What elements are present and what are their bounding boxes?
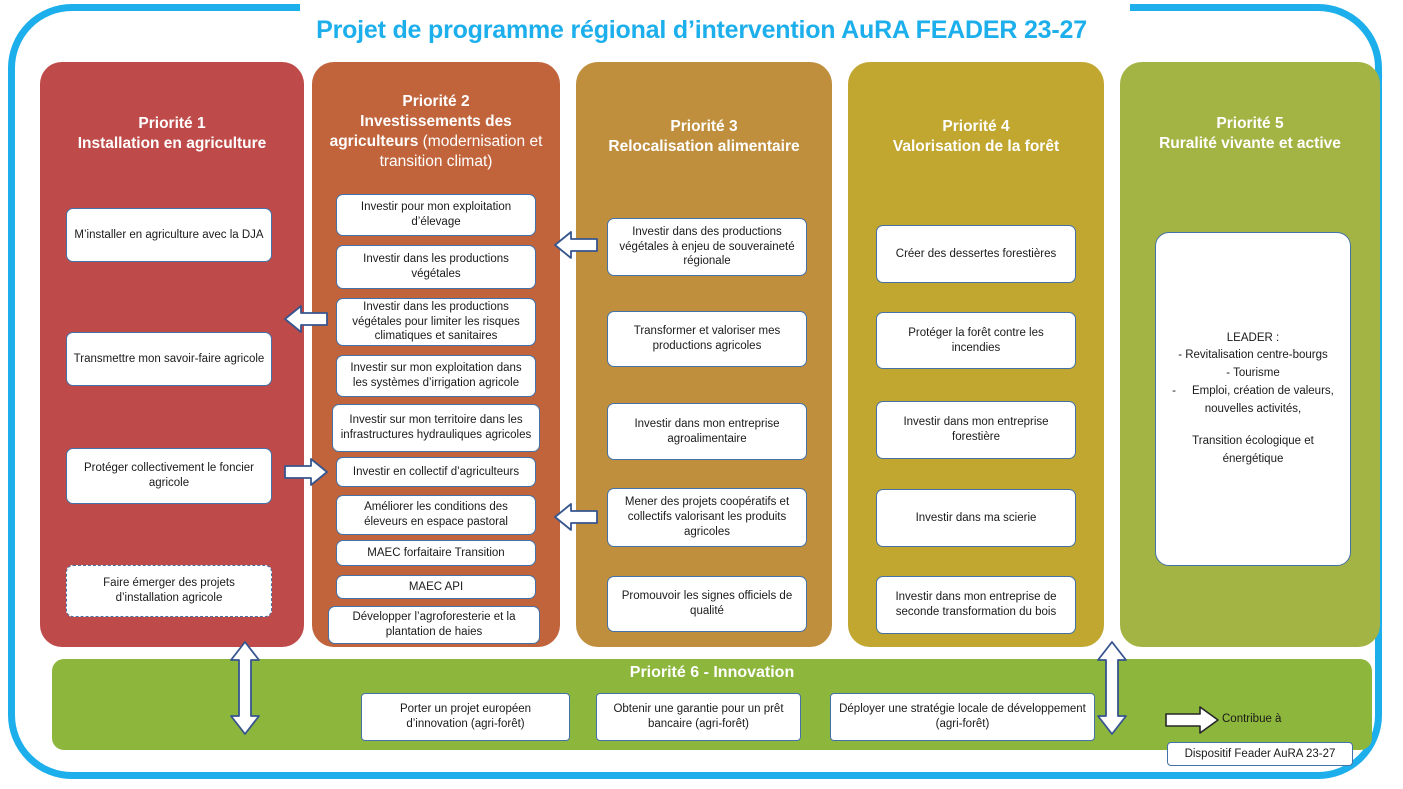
priority-2-number: Priorité 2: [322, 92, 550, 112]
leader-line: - Tourisme: [1162, 365, 1344, 383]
arrow-vertical-p5-p6: [1095, 640, 1129, 736]
action-box[interactable]: Transformer et valoriser mes productions…: [607, 311, 807, 367]
action-box[interactable]: Investir dans mon entreprise agroaliment…: [607, 403, 807, 460]
action-box[interactable]: Obtenir une garantie pour un prêt bancai…: [596, 693, 801, 741]
action-box[interactable]: Investir dans les productions végétales …: [336, 298, 536, 346]
action-box[interactable]: Améliorer les conditions des éleveurs en…: [336, 495, 536, 535]
priority-1-header: Priorité 1 Installation en agriculture: [40, 62, 304, 154]
action-box[interactable]: Mener des projets coopératifs et collect…: [607, 488, 807, 547]
priority-3-header: Priorité 3 Relocalisation alimentaire: [576, 62, 832, 157]
action-box[interactable]: Investir dans des productions végétales …: [607, 218, 807, 276]
arrow-left-p3-to-p2-upper: [553, 229, 599, 261]
priority-3-number: Priorité 3: [586, 117, 822, 137]
arrow-left-p3-to-p2-lower: [553, 501, 599, 533]
arrow-vertical-p1-p6: [228, 640, 262, 736]
action-box[interactable]: Protéger collectivement le foncier agric…: [66, 448, 272, 504]
action-box[interactable]: Investir pour mon exploitation d’élevage: [336, 194, 536, 236]
frame-title-mask: [300, 0, 1130, 16]
action-box[interactable]: Investir dans les productions végétales: [336, 245, 536, 289]
priority-4-header: Priorité 4 Valorisation de la forêt: [848, 62, 1104, 157]
leader-box[interactable]: LEADER : - Revitalisation centre-bourgs …: [1155, 232, 1351, 566]
legend-target-box[interactable]: Dispositif Feader AuRA 23-27: [1167, 742, 1353, 766]
action-box[interactable]: Transmettre mon savoir-faire agricole: [66, 332, 272, 386]
action-box[interactable]: Promouvoir les signes officiels de quali…: [607, 576, 807, 632]
action-box[interactable]: Déployer une stratégie locale de dévelop…: [830, 693, 1095, 741]
priority-4-name: Valorisation de la forêt: [858, 137, 1094, 157]
action-box[interactable]: Investir dans mon entreprise forestière: [876, 401, 1076, 459]
action-box[interactable]: Investir sur mon exploitation dans les s…: [336, 355, 536, 397]
priority-1-number: Priorité 1: [50, 114, 294, 134]
leader-spacer: [1162, 419, 1344, 433]
priority-3-name: Relocalisation alimentaire: [586, 137, 822, 157]
leader-line: - Revitalisation centre-bourgs: [1162, 347, 1344, 365]
priority-4-number: Priorité 4: [858, 117, 1094, 137]
priority-1-name: Installation en agriculture: [50, 134, 294, 154]
priority-5-name: Ruralité vivante et active: [1130, 134, 1370, 154]
leader-final-line: Transition écologique et énergétique: [1162, 433, 1344, 469]
diagram-canvas: Projet de programme régional d’intervent…: [0, 0, 1403, 789]
arrow-right-p1-to-p2: [283, 456, 329, 488]
action-box[interactable]: Créer des dessertes forestières: [876, 225, 1076, 283]
action-box[interactable]: Investir en collectif d’agriculteurs: [336, 457, 536, 487]
priority-5-number: Priorité 5: [1130, 114, 1370, 134]
action-box[interactable]: Investir dans mon entreprise de seconde …: [876, 576, 1076, 634]
page-title: Projet de programme régional d’intervent…: [0, 16, 1403, 45]
priority-5-header: Priorité 5 Ruralité vivante et active: [1120, 62, 1380, 154]
action-box[interactable]: M’installer en agriculture avec la DJA: [66, 208, 272, 262]
legend-arrow-icon: [1164, 705, 1220, 735]
action-box[interactable]: Développer l’agroforesterie et la planta…: [328, 606, 540, 644]
action-box[interactable]: Investir sur mon territoire dans les inf…: [332, 404, 540, 452]
action-box[interactable]: Protéger la forêt contre les incendies: [876, 312, 1076, 369]
action-box[interactable]: MAEC forfaitaire Transition: [336, 540, 536, 566]
priority-2-header: Priorité 2 Investissements des agriculte…: [312, 62, 560, 173]
action-box[interactable]: Porter un projet européen d’innovation (…: [361, 693, 570, 741]
leader-heading: LEADER :: [1162, 330, 1344, 348]
leader-line: - Emploi, création de valeurs, nouvelles…: [1162, 383, 1344, 419]
legend-arrow-label: Contribue à: [1222, 713, 1281, 725]
action-box[interactable]: Faire émerger des projets d’installation…: [66, 565, 272, 617]
action-box[interactable]: Investir dans ma scierie: [876, 489, 1076, 547]
action-box[interactable]: MAEC API: [336, 575, 536, 599]
arrow-left-p2-to-p1: [283, 303, 329, 335]
